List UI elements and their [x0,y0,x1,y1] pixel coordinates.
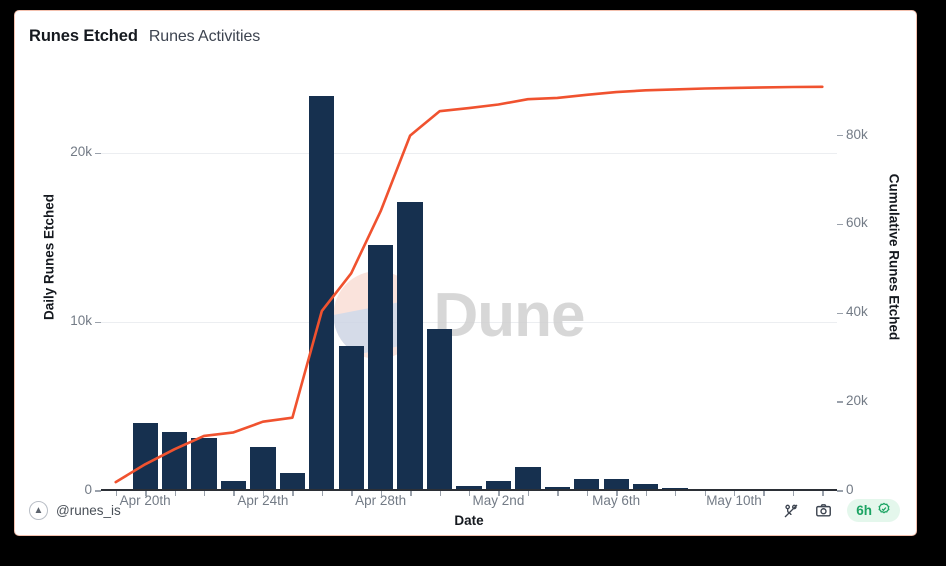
y-axis-left-tick-label: 0 [84,482,92,497]
x-tick-mark [116,491,117,496]
x-tick-mark [793,491,794,496]
chart-card: Runes Etched Runes Activities Daily Rune… [14,10,917,536]
y-axis-left-tick-label: 10k [70,313,92,328]
y-axis-right-tick-label: 40k [846,304,868,319]
tick-mark [837,490,843,491]
x-tick-mark [822,491,823,496]
x-tick-mark [528,491,529,496]
tick-mark [837,401,843,402]
y-axis-left-tick-label: 20k [70,144,92,159]
x-tick-mark [292,491,293,496]
fork-disabled-icon[interactable] [781,501,800,520]
refresh-label: 6h [856,503,872,518]
footer-actions: 6h [781,499,900,522]
plot-area: 010k20k 020k40k60k80k Dune Apr 20thApr 2… [101,69,837,491]
card-header: Runes Etched Runes Activities [29,27,260,46]
x-tick-mark [410,491,411,496]
author-info[interactable]: ▲ @runes_is [29,501,121,520]
verified-check-icon [877,502,891,519]
page-title: Runes Etched [29,27,138,46]
x-tick-mark [587,491,588,496]
x-tick-mark [204,491,205,496]
y-axis-right-label: Cumulative Runes Etched [887,174,902,341]
x-tick-mark [675,491,676,496]
y-axis-right-tick-label: 20k [846,393,868,408]
x-tick-mark [440,491,441,496]
tick-mark [837,313,843,314]
card-footer: ▲ @runes_is 6h [15,499,916,527]
y-axis-right-tick-label: 80k [846,127,868,142]
author-handle[interactable]: @runes_is [56,503,121,518]
camera-icon[interactable] [814,501,833,520]
line-series [101,69,837,491]
tick-mark [837,135,843,136]
page-subtitle: Runes Activities [149,28,260,46]
x-tick-mark [469,491,470,496]
y-axis-right-tick-label: 60k [846,215,868,230]
user-avatar-icon: ▲ [29,501,48,520]
y-axis-right-tick-label: 0 [846,482,854,497]
x-tick-mark [557,491,558,496]
x-tick-mark [351,491,352,496]
x-tick-mark [763,491,764,496]
refresh-badge[interactable]: 6h [847,499,900,522]
x-tick-mark [322,491,323,496]
x-tick-mark [233,491,234,496]
y-axis-left-label: Daily Runes Etched [42,194,57,320]
x-tick-mark [175,491,176,496]
x-tick-mark [646,491,647,496]
tick-mark [837,224,843,225]
